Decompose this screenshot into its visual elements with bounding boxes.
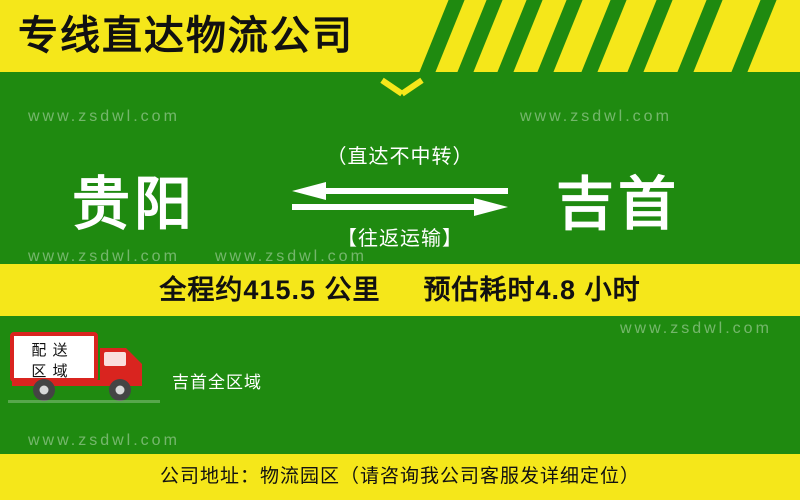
footer-text: 公司地址：物流园区（请咨询我公司客服发详细定位） xyxy=(0,454,800,500)
truck-badge-line1: 配 送 xyxy=(22,340,78,361)
watermark-text: www.zsdwl.com xyxy=(28,432,180,450)
distance-value: 全程约415.5 公里 xyxy=(159,275,380,305)
stats-row: 全程约415.5 公里 预估耗时4.8 小时 xyxy=(0,264,800,316)
watermark-text: www.zsdwl.com xyxy=(620,320,772,338)
truck-badge: 配 送 区 域 xyxy=(22,340,78,382)
watermark-text: www.zsdwl.com xyxy=(520,108,672,126)
chevron-down-icon xyxy=(382,84,422,106)
destination-city: 吉首 xyxy=(556,170,680,240)
watermark-text: www.zsdwl.com xyxy=(28,108,180,126)
origin-city: 贵阳 xyxy=(72,170,196,240)
duration-value: 预估耗时4.8 小时 xyxy=(424,275,641,305)
route-sub-note: 【往返运输】 xyxy=(290,222,510,251)
logistics-banner: www.zsdwl.com www.zsdwl.com www.zsdwl.co… xyxy=(0,0,800,500)
route-note: （直达不中转） xyxy=(290,140,510,169)
page-title: 专线直达物流公司 xyxy=(18,8,354,64)
header-stripes xyxy=(420,0,800,72)
delivery-area-text: 吉首全区域 xyxy=(172,368,262,393)
two-way-arrow-icon xyxy=(292,182,508,216)
truck-badge-line2: 区 域 xyxy=(22,361,78,382)
